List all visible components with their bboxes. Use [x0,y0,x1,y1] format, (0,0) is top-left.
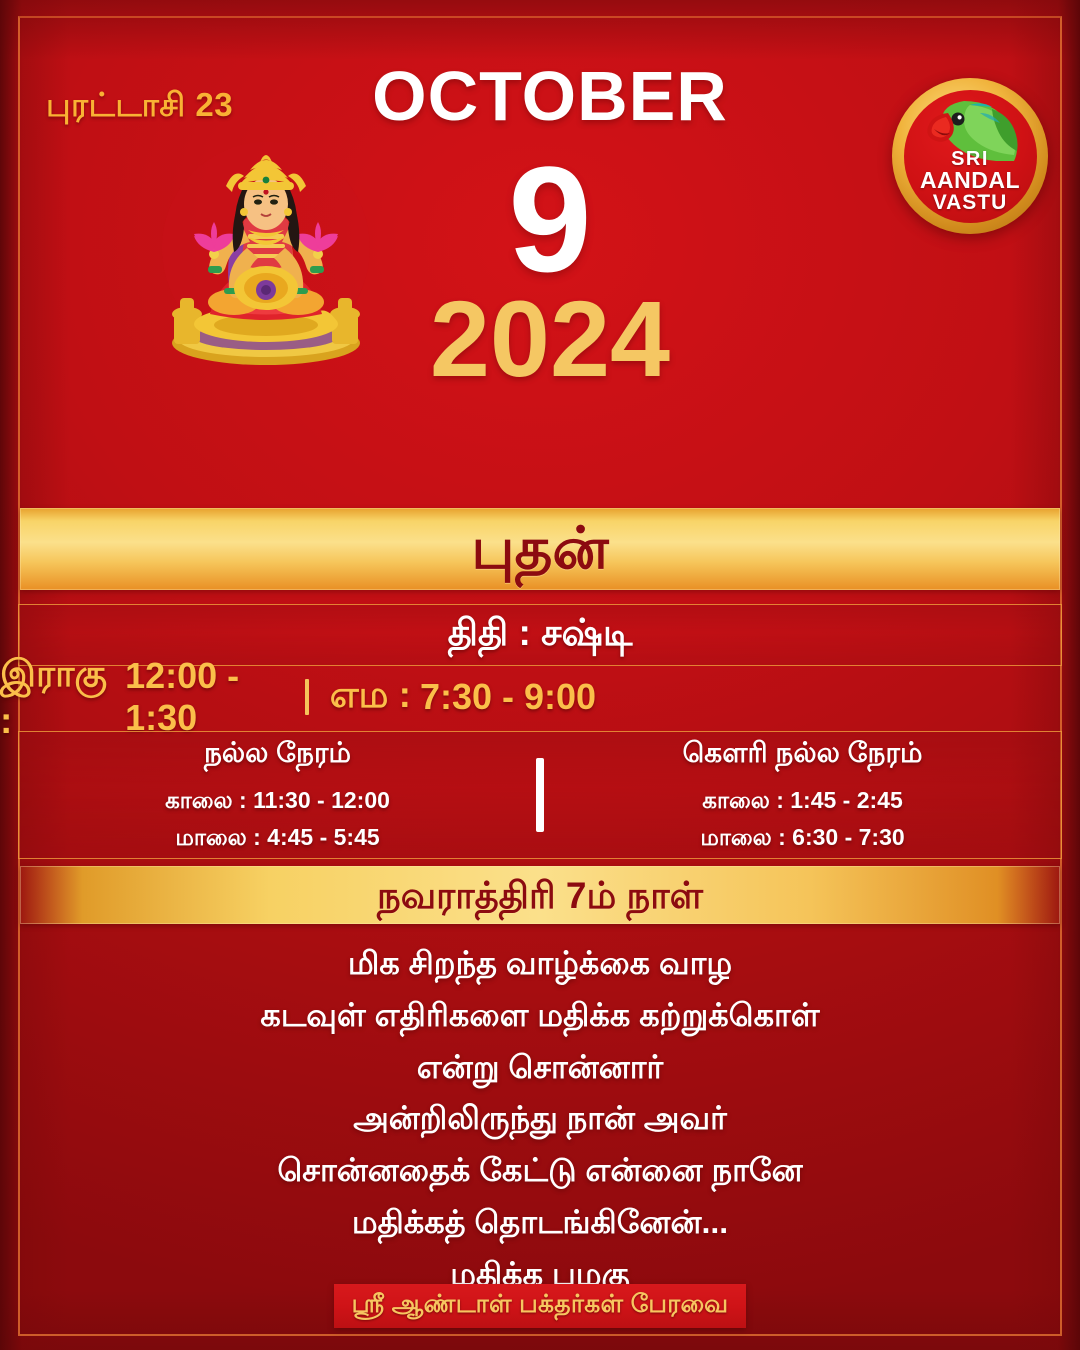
logo-disc: SRI AANDAL VASTU [904,90,1037,223]
vertical-divider [305,679,309,715]
logo-line-3: VASTU [904,192,1037,213]
year-number: 2024 [300,289,800,388]
weekday-label: புதன் [471,520,608,578]
gowri-nalla-neram-morning: காலை : 1:45 - 2:45 [702,782,903,819]
festival-band: நவராத்திரி 7ம் நாள் [20,866,1060,924]
vertical-divider [536,758,544,832]
gowri-nalla-neram-evening: மாலை : 6:30 - 7:30 [700,819,904,856]
nalla-neram-cell: நல்ல நேரம் காலை : 11:30 - 12:00 மாலை : 4… [19,732,536,858]
logo-line-2: AANDAL [904,169,1037,192]
logo-text: SRI AANDAL VASTU [904,149,1037,213]
month-name: OCTOBER [300,62,800,131]
festival-label: நவராத்திரி 7ம் நாள் [377,877,703,914]
message-line: மிக சிறந்த வாழ்க்கை வாழ [70,938,1010,990]
good-times-box: நல்ல நேரம் காலை : 11:30 - 12:00 மாலை : 4… [18,731,1062,859]
logo-line-1: SRI [904,149,1037,169]
ema-kandam-cell: எம : 7:30 - 9:00 [313,674,614,721]
tamil-month-label: புரட்டாசி 23 [46,86,233,129]
calendar-poster: புரட்டாசி 23 [0,0,1080,1350]
message-line: சொன்னதைக் கேட்டு என்னை நானே [70,1145,1010,1197]
footer-text: ஸ்ரீ ஆண்டாள் பக்தர்கள் பேரவை [352,1290,729,1322]
weekday-band: புதன் [20,508,1060,590]
nalla-neram-title: நல்ல நேரம் [204,737,351,773]
raahu-kaalam-cell: இராகு : 12:00 - 1:30 [0,653,301,742]
nalla-neram-evening: மாலை : 4:45 - 5:45 [175,819,379,856]
raahu-time: 12:00 - 1:30 [125,655,301,739]
gowri-nalla-neram-cell: கௌரி நல்ல நேரம் காலை : 1:45 - 2:45 மாலை … [544,732,1061,858]
message-line: மதிக்கத் தொடங்கினேன்... [70,1197,1010,1249]
nalla-neram-morning: காலை : 11:30 - 12:00 [165,782,390,819]
message-line: கடவுள் எதிரிகளை மதிக்க கற்றுக்கொள் [70,990,1010,1042]
date-block: OCTOBER 9 2024 [300,62,800,388]
ema-label: எம : [330,674,411,721]
gowri-nalla-neram-title: கௌரி நல்ல நேரம் [683,737,923,773]
ema-time: 7:30 - 9:00 [420,676,596,718]
footer-band: ஸ்ரீ ஆண்டாள் பக்தர்கள் பேரவை [334,1284,746,1328]
inauspicious-times-row: இராகு : 12:00 - 1:30 எம : 7:30 - 9:00 [0,666,613,728]
daily-message: மிக சிறந்த வாழ்க்கை வாழ கடவுள் எதிரிகளை … [70,938,1010,1301]
thithi-text: திதி : சஷ்டி [448,612,633,659]
sri-aandal-vastu-logo[interactable]: SRI AANDAL VASTU [892,78,1048,234]
message-line: என்று சொன்னார் [70,1042,1010,1094]
message-line: அன்றிலிருந்து நான் அவர் [70,1093,1010,1145]
raahu-label: இராகு : [0,653,116,742]
